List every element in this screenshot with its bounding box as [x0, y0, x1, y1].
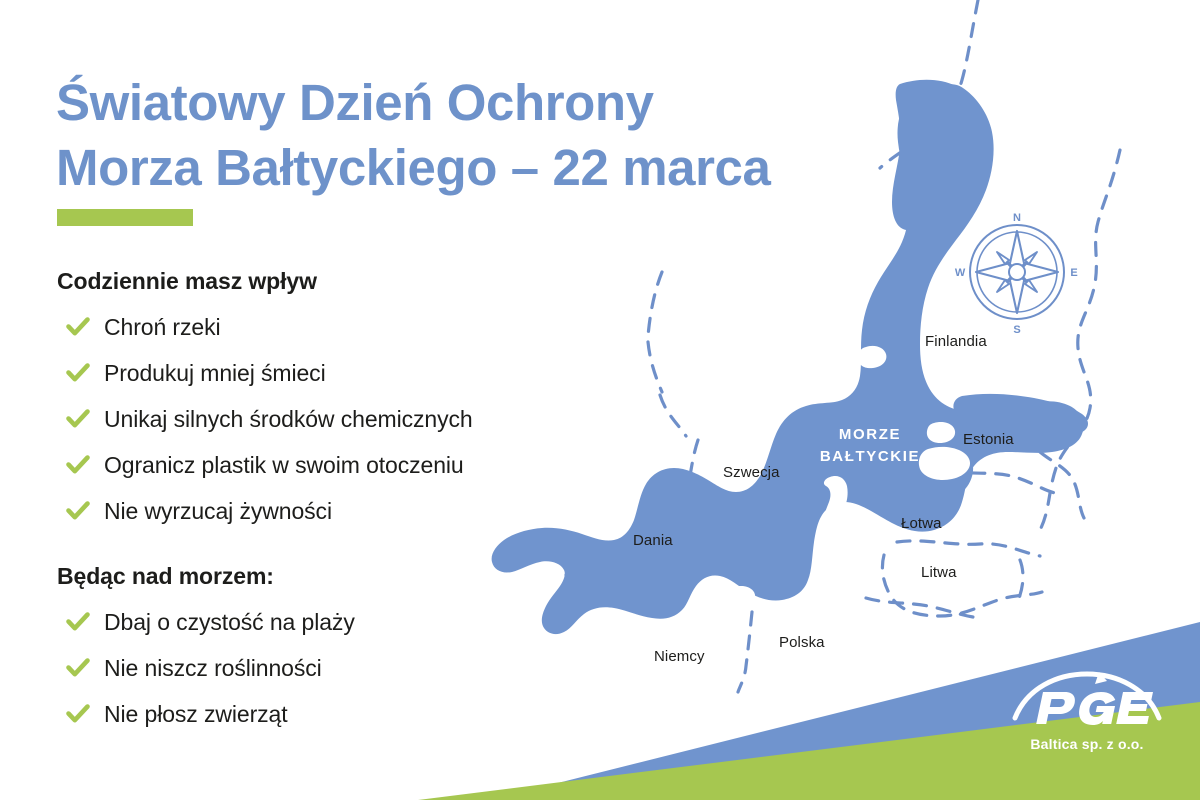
- country-label-litwa: Litwa: [921, 564, 957, 581]
- sea-name-line-2: BAŁTYCKIE: [820, 448, 920, 465]
- country-label-szwecja: Szwecja: [723, 464, 780, 481]
- check-icon: [65, 452, 91, 478]
- list-item: Unikaj silnych środków chemicznych: [57, 396, 473, 442]
- list-item: Produkuj mniej śmieci: [57, 350, 473, 396]
- compass-rose-icon: N E S W: [955, 212, 1078, 336]
- section-seaside-list: Dbaj o czystość na plażyNie niszcz rośli…: [57, 599, 355, 737]
- check-icon: [65, 406, 91, 432]
- compass-east-label: E: [1070, 267, 1077, 279]
- page-title: Światowy Dzień Ochrony Morza Bałtyckiego…: [56, 70, 936, 201]
- list-item: Ogranicz plastik w swoim otoczeniu: [57, 442, 473, 488]
- compass-south-label: S: [1013, 324, 1020, 336]
- check-icon: [65, 498, 91, 524]
- list-item-label: Nie wyrzucaj żywności: [104, 500, 332, 523]
- section-daily: Codziennie masz wpływ Chroń rzekiProduku…: [57, 268, 473, 534]
- green-accent-bar: [57, 209, 193, 226]
- list-item-label: Nie płosz zwierząt: [104, 703, 288, 726]
- list-item: Chroń rzeki: [57, 304, 473, 350]
- sea-name-label: MORZE BAŁTYCKIE: [790, 424, 950, 468]
- country-label-otwa: Łotwa: [901, 515, 942, 532]
- pge-logo-icon: [1007, 670, 1167, 728]
- check-icon: [65, 701, 91, 727]
- pge-logo: Baltica sp. z o.o.: [1007, 670, 1167, 752]
- country-label-estonia: Estonia: [963, 431, 1014, 448]
- check-icon: [65, 609, 91, 635]
- pge-logo-subtitle: Baltica sp. z o.o.: [1007, 736, 1167, 752]
- section-seaside-heading: Będąc nad morzem:: [57, 563, 355, 590]
- sea-name-line-1: MORZE: [839, 426, 901, 443]
- list-item-label: Produkuj mniej śmieci: [104, 362, 326, 385]
- page-title-line-1: Światowy Dzień Ochrony: [56, 70, 936, 135]
- list-item-label: Unikaj silnych środków chemicznych: [104, 408, 473, 431]
- section-daily-heading: Codziennie masz wpływ: [57, 268, 473, 295]
- section-seaside: Będąc nad morzem: Dbaj o czystość na pla…: [57, 563, 355, 737]
- list-item: Nie płosz zwierząt: [57, 691, 355, 737]
- list-item-label: Chroń rzeki: [104, 316, 221, 339]
- country-label-niemcy: Niemcy: [654, 648, 705, 665]
- list-item-label: Nie niszcz roślinności: [104, 657, 322, 680]
- list-item: Nie niszcz roślinności: [57, 645, 355, 691]
- country-label-polska: Polska: [779, 634, 825, 651]
- check-icon: [65, 314, 91, 340]
- compass-west-label: W: [955, 267, 966, 279]
- list-item: Dbaj o czystość na plaży: [57, 599, 355, 645]
- country-label-finlandia: Finlandia: [925, 333, 987, 350]
- compass-north-label: N: [1013, 212, 1021, 224]
- infographic-poster: N E S W FinlandiaSzwecjaEstoniaŁotwaLitw…: [0, 0, 1200, 800]
- section-daily-list: Chroń rzekiProdukuj mniej śmieciUnikaj s…: [57, 304, 473, 534]
- list-item-label: Dbaj o czystość na plaży: [104, 611, 355, 634]
- country-label-dania: Dania: [633, 532, 673, 549]
- check-icon: [65, 360, 91, 386]
- list-item: Nie wyrzucaj żywności: [57, 488, 473, 534]
- list-item-label: Ogranicz plastik w swoim otoczeniu: [104, 454, 464, 477]
- check-icon: [65, 655, 91, 681]
- page-title-line-2: Morza Bałtyckiego – 22 marca: [56, 135, 936, 200]
